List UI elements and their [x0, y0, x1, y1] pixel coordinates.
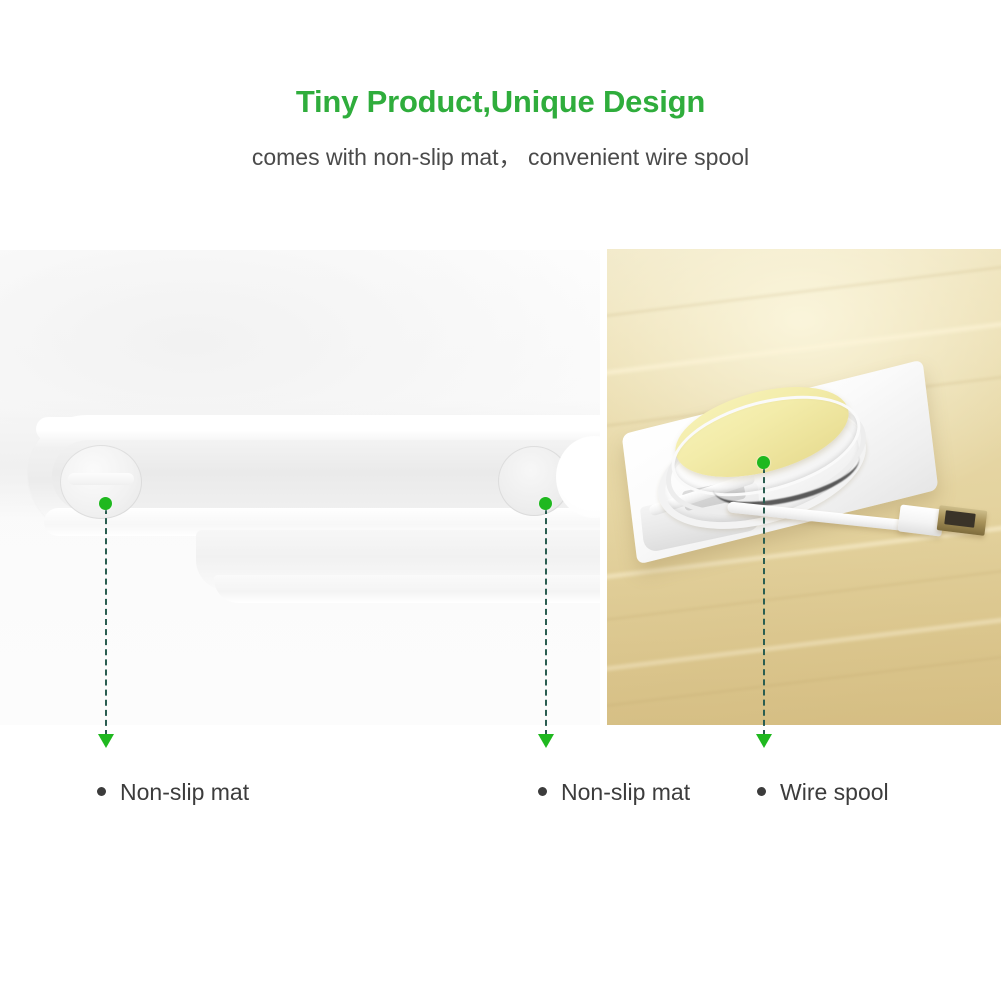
callout-arrow-2 — [538, 734, 554, 748]
callout-dot-1 — [99, 497, 112, 510]
callout-label-3: Wire spool — [757, 779, 889, 806]
callout-dot-3 — [757, 456, 770, 469]
bullet-icon — [757, 787, 766, 796]
callout-line-1 — [105, 508, 107, 736]
callout-dot-2 — [539, 497, 552, 510]
page-subtitle: comes with non-slip mat， convenient wire… — [0, 138, 1001, 172]
product-lower-shelf-edge — [214, 575, 600, 603]
callout-arrow-1 — [98, 734, 114, 748]
product-photo-left — [0, 250, 600, 725]
product-feature-page: Tiny Product,Unique Design comes with no… — [0, 0, 1001, 1001]
product-top-rim — [36, 417, 600, 441]
callout-label-2: Non-slip mat — [538, 779, 690, 806]
callout-label-1: Non-slip mat — [97, 779, 249, 806]
product-photo-right — [607, 249, 1001, 725]
callout-arrow-3 — [756, 734, 772, 748]
callout-line-3 — [763, 467, 765, 736]
bullet-icon — [97, 787, 106, 796]
callout-line-2 — [545, 508, 547, 736]
callout-label-3-text: Wire spool — [780, 779, 889, 805]
header: Tiny Product,Unique Design comes with no… — [0, 0, 1001, 240]
bullet-icon — [538, 787, 547, 796]
callout-label-2-text: Non-slip mat — [561, 779, 690, 805]
page-title: Tiny Product,Unique Design — [0, 84, 1001, 120]
callout-label-1-text: Non-slip mat — [120, 779, 249, 805]
